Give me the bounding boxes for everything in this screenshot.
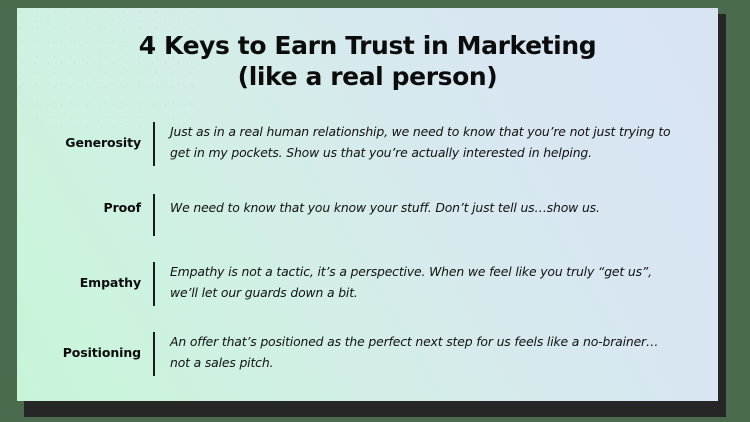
key-label-cell: Proof [17, 192, 153, 222]
title-line-2: (like a real person) [17, 61, 718, 92]
key-list: Generosity Just as in a real human relat… [17, 120, 718, 376]
key-label: Empathy [80, 275, 141, 290]
key-label: Positioning [63, 345, 141, 360]
key-label-cell: Empathy [17, 260, 153, 304]
key-description: An offer that’s positioned as the perfec… [170, 331, 674, 373]
key-label: Generosity [65, 135, 141, 150]
key-description: We need to know that you know your stuff… [170, 197, 600, 218]
key-text-cell: Empathy is not a tactic, it’s a perspect… [155, 260, 718, 304]
key-label-cell: Positioning [17, 330, 153, 374]
key-description: Just as in a real human relationship, we… [170, 121, 674, 163]
slide-title: 4 Keys to Earn Trust in Marketing (like … [17, 30, 718, 92]
title-line-1: 4 Keys to Earn Trust in Marketing [17, 30, 718, 61]
key-text-cell: We need to know that you know your stuff… [155, 192, 718, 222]
key-label: Proof [104, 200, 141, 215]
slide-stage: 4 Keys to Earn Trust in Marketing (like … [0, 0, 750, 422]
presentation-slide: 4 Keys to Earn Trust in Marketing (like … [17, 8, 718, 401]
key-description: Empathy is not a tactic, it’s a perspect… [170, 261, 674, 303]
key-row-proof: Proof We need to know that you know your… [17, 192, 718, 236]
key-row-empathy: Empathy Empathy is not a tactic, it’s a … [17, 260, 718, 306]
key-text-cell: Just as in a real human relationship, we… [155, 120, 718, 164]
key-text-cell: An offer that’s positioned as the perfec… [155, 330, 718, 374]
key-label-cell: Generosity [17, 120, 153, 164]
key-row-generosity: Generosity Just as in a real human relat… [17, 120, 718, 166]
slide-content: 4 Keys to Earn Trust in Marketing (like … [17, 8, 718, 401]
key-row-positioning: Positioning An offer that’s positioned a… [17, 330, 718, 376]
